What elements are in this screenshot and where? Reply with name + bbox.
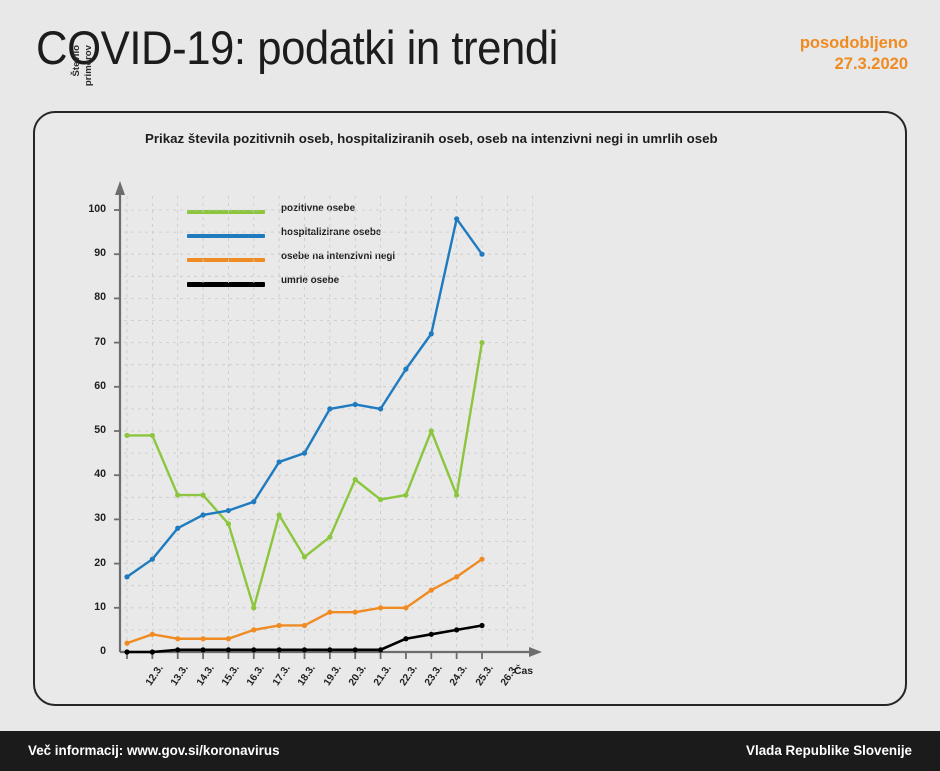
series-line-1 [127,219,482,577]
series-point [429,588,434,593]
series-point [226,636,231,641]
line-chart-plot: 010203040506070809010012.3.13.3.14.3.15.… [35,113,909,708]
series-point [302,451,307,456]
series-point [277,647,282,652]
series-point [302,554,307,559]
series-point [479,557,484,562]
series-point [454,216,459,221]
series-point [403,605,408,610]
series-point [327,534,332,539]
y-axis-tick-label: 80 [72,291,106,303]
series-point [251,647,256,652]
page-title: COVID-19: podatki in trendi [36,19,558,77]
series-point [226,647,231,652]
series-point [200,512,205,517]
infographic-page: COVID-19: podatki in trendi posodobljeno… [0,0,940,771]
series-point [277,459,282,464]
series-point [378,497,383,502]
series-point [479,340,484,345]
y-axis-tick-label: 70 [72,336,106,348]
series-point [150,433,155,438]
footer-info-link[interactable]: Več informacij: www.gov.si/koronavirus [28,743,280,758]
series-point [403,492,408,497]
series-point [302,647,307,652]
y-axis-tick-label: 100 [72,203,106,215]
series-point [200,647,205,652]
series-point [429,428,434,433]
series-point [277,512,282,517]
series-point [226,508,231,513]
series-point [226,521,231,526]
series-point [277,623,282,628]
chart-card: Prikaz števila pozitivnih oseb, hospital… [33,111,907,706]
series-point [378,406,383,411]
series-point [429,632,434,637]
series-point [200,492,205,497]
series-point [353,647,358,652]
series-point [150,649,155,654]
series-point [454,627,459,632]
footer-organization: Vlada Republike Slovenije [746,743,912,758]
series-point [175,526,180,531]
x-axis-title: Čas [514,666,533,677]
series-point [124,641,129,646]
y-axis-tick-label: 0 [72,645,106,657]
series-point [327,610,332,615]
series-point [251,605,256,610]
series-point [175,647,180,652]
y-axis-tick-label: 50 [72,424,106,436]
series-point [353,610,358,615]
series-point [124,433,129,438]
series-point [327,647,332,652]
series-point [403,636,408,641]
series-point [403,367,408,372]
series-point [327,406,332,411]
series-point [150,557,155,562]
y-axis-tick-label: 90 [72,247,106,259]
chart-canvas [35,113,909,708]
series-point [251,499,256,504]
y-axis-tick-label: 10 [72,601,106,613]
y-axis-tick-label: 20 [72,557,106,569]
series-point [429,331,434,336]
series-point [378,605,383,610]
series-point [479,623,484,628]
page-footer: Več informacij: www.gov.si/koronavirus V… [0,731,940,771]
y-axis-tick-label: 40 [72,468,106,480]
last-updated-block: posodobljeno 27.3.2020 [800,33,908,75]
y-axis-tick-label: 30 [72,512,106,524]
series-point [479,252,484,257]
series-point [175,492,180,497]
series-point [124,649,129,654]
series-point [175,636,180,641]
series-point [124,574,129,579]
series-point [454,492,459,497]
series-point [353,402,358,407]
updated-date: 27.3.2020 [800,54,908,75]
series-point [302,623,307,628]
series-point [454,574,459,579]
series-point [251,627,256,632]
y-axis-tick-label: 60 [72,380,106,392]
updated-label: posodobljeno [800,33,908,54]
series-point [200,636,205,641]
series-point [378,647,383,652]
page-header: COVID-19: podatki in trendi posodobljeno… [0,0,940,104]
series-point [150,632,155,637]
series-point [353,477,358,482]
